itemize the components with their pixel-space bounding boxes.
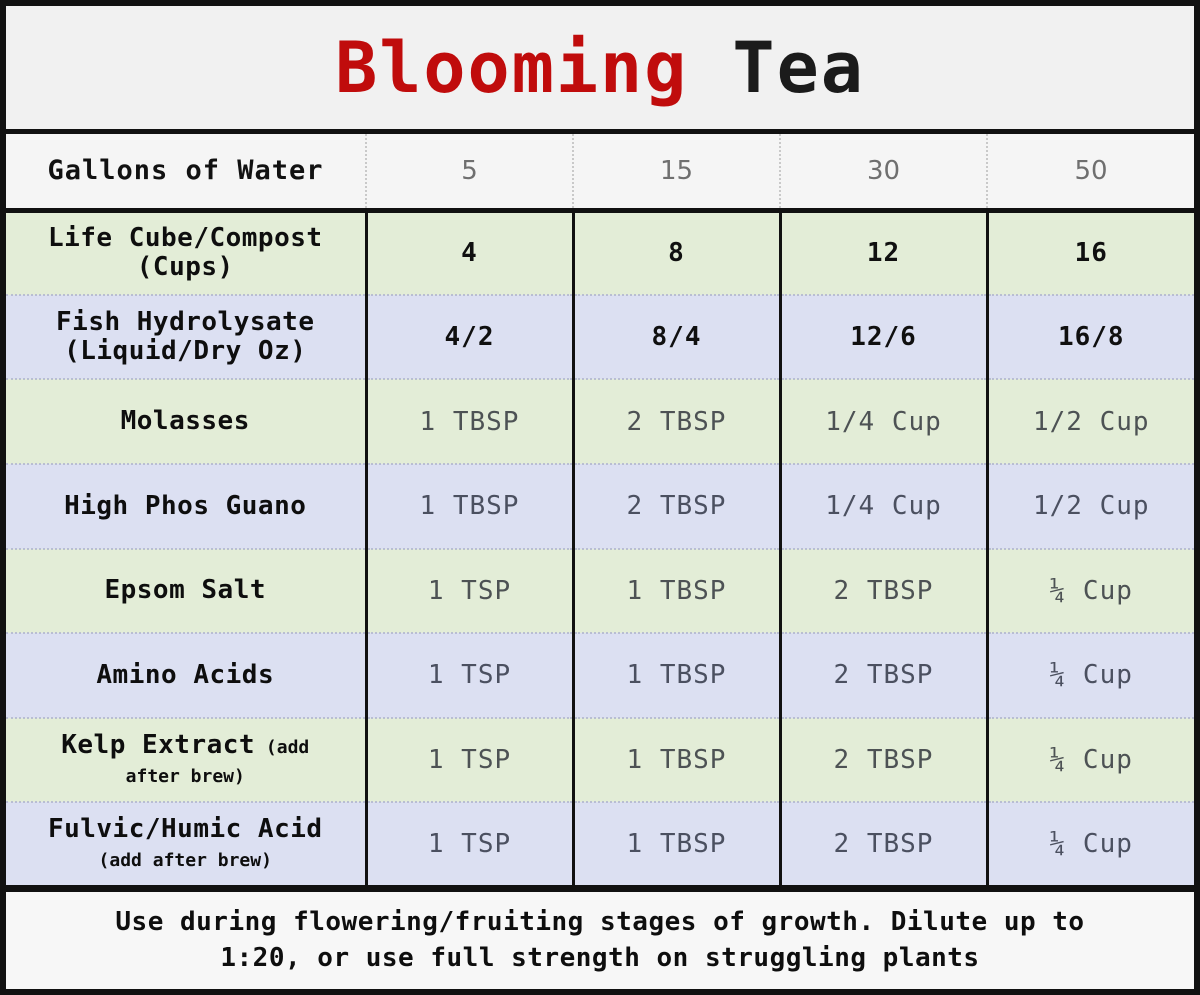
- footer-line2: 1:20, or use full strength on struggling…: [220, 943, 979, 973]
- row-label-line1: High Phos Guano: [64, 491, 306, 521]
- table-row: Life Cube/Compost (Cups) 4 8 12 16: [6, 210, 1194, 295]
- table-row: Amino Acids 1 TSP 1 TBSP 2 TBSP ¼ Cup: [6, 633, 1194, 718]
- page-title: Blooming Tea: [335, 33, 865, 103]
- row-label-line2: (add after brew): [99, 850, 272, 871]
- cell-value: 1/4 Cup: [780, 379, 987, 464]
- cell-value: ¼ Cup: [987, 549, 1194, 634]
- header-gallons-15: 15: [573, 134, 780, 210]
- cell-value: 16: [987, 210, 1194, 295]
- cell-value: 1 TBSP: [573, 633, 780, 718]
- cell-value: 2 TBSP: [573, 464, 780, 549]
- row-label-molasses: Molasses: [6, 379, 366, 464]
- row-label-epsom-salt: Epsom Salt: [6, 549, 366, 634]
- row-label-fish-hydrolysate: Fish Hydrolysate (Liquid/Dry Oz): [6, 295, 366, 380]
- nutrient-table: Gallons of Water 5 15 30 50 Life Cube/Co…: [6, 134, 1194, 889]
- cell-value: 1 TBSP: [573, 802, 780, 887]
- table-row: Fish Hydrolysate (Liquid/Dry Oz) 4/2 8/4…: [6, 295, 1194, 380]
- cell-value: 1/2 Cup: [987, 379, 1194, 464]
- table-row: Fulvic/Humic Acid (add after brew) 1 TSP…: [6, 802, 1194, 887]
- cell-value: 1 TSP: [366, 549, 573, 634]
- cell-value: 1 TSP: [366, 718, 573, 803]
- cell-value: ¼ Cup: [987, 802, 1194, 887]
- table-row: Molasses 1 TBSP 2 TBSP 1/4 Cup 1/2 Cup: [6, 379, 1194, 464]
- row-label-line2: (Cups): [137, 252, 234, 282]
- cell-value: 4/2: [366, 295, 573, 380]
- cell-value: 1 TBSP: [366, 379, 573, 464]
- cell-value: ¼ Cup: [987, 718, 1194, 803]
- usage-instructions: Use during flowering/fruiting stages of …: [115, 905, 1084, 977]
- row-label-line2: (Liquid/Dry Oz): [64, 336, 306, 366]
- title-secondary-word: Tea: [688, 27, 865, 109]
- row-label-high-phos-guano: High Phos Guano: [6, 464, 366, 549]
- row-label-line1: Amino Acids: [96, 660, 274, 690]
- table-row: Kelp Extract (add after brew) 1 TSP 1 TB…: [6, 718, 1194, 803]
- footer-line1: Use during flowering/fruiting stages of …: [115, 907, 1084, 937]
- cell-value: 2 TBSP: [780, 549, 987, 634]
- row-label-line1: Kelp Extract: [61, 730, 255, 760]
- header-gallons-30: 30: [780, 134, 987, 210]
- cell-value: 2 TBSP: [780, 718, 987, 803]
- row-label-line2: after brew): [126, 766, 245, 787]
- footer-band: Use during flowering/fruiting stages of …: [6, 889, 1194, 989]
- table-header-row: Gallons of Water 5 15 30 50: [6, 134, 1194, 210]
- header-gallons-5: 5: [366, 134, 573, 210]
- cell-value: ¼ Cup: [987, 633, 1194, 718]
- title-primary-word: Blooming: [335, 27, 688, 109]
- row-label-line1: Epsom Salt: [104, 575, 266, 605]
- cell-value: 2 TBSP: [780, 633, 987, 718]
- row-label-kelp-extract: Kelp Extract (add after brew): [6, 718, 366, 803]
- cell-value: 1 TBSP: [573, 549, 780, 634]
- cell-value: 12/6: [780, 295, 987, 380]
- cell-value: 1 TBSP: [366, 464, 573, 549]
- cell-value: 8/4: [573, 295, 780, 380]
- header-label-gallons: Gallons of Water: [6, 134, 366, 210]
- table-row: Epsom Salt 1 TSP 1 TBSP 2 TBSP ¼ Cup: [6, 549, 1194, 634]
- cell-value: 2 TBSP: [780, 802, 987, 887]
- row-label-life-cube-compost: Life Cube/Compost (Cups): [6, 210, 366, 295]
- header-gallons-50: 50: [987, 134, 1194, 210]
- row-label-inline-note: (add: [255, 737, 309, 758]
- table-row: High Phos Guano 1 TBSP 2 TBSP 1/4 Cup 1/…: [6, 464, 1194, 549]
- cell-value: 12: [780, 210, 987, 295]
- row-label-line1: Fulvic/Humic Acid: [48, 814, 323, 844]
- row-label-line1: Molasses: [121, 406, 250, 436]
- row-label-fulvic-humic-acid: Fulvic/Humic Acid (add after brew): [6, 802, 366, 887]
- cell-value: 8: [573, 210, 780, 295]
- title-band: Blooming Tea: [6, 6, 1194, 134]
- cell-value: 1/2 Cup: [987, 464, 1194, 549]
- row-label-line1: Fish Hydrolysate: [56, 307, 314, 337]
- cell-value: 1 TSP: [366, 633, 573, 718]
- cell-value: 2 TBSP: [573, 379, 780, 464]
- cell-value: 1 TSP: [366, 802, 573, 887]
- cell-value: 1/4 Cup: [780, 464, 987, 549]
- cell-value: 4: [366, 210, 573, 295]
- cell-value: 16/8: [987, 295, 1194, 380]
- cell-value: 1 TBSP: [573, 718, 780, 803]
- blooming-tea-chart: Blooming Tea Gallons of Water 5 15 30 50…: [0, 0, 1200, 995]
- row-label-amino-acids: Amino Acids: [6, 633, 366, 718]
- row-label-line1: Life Cube/Compost: [48, 223, 323, 253]
